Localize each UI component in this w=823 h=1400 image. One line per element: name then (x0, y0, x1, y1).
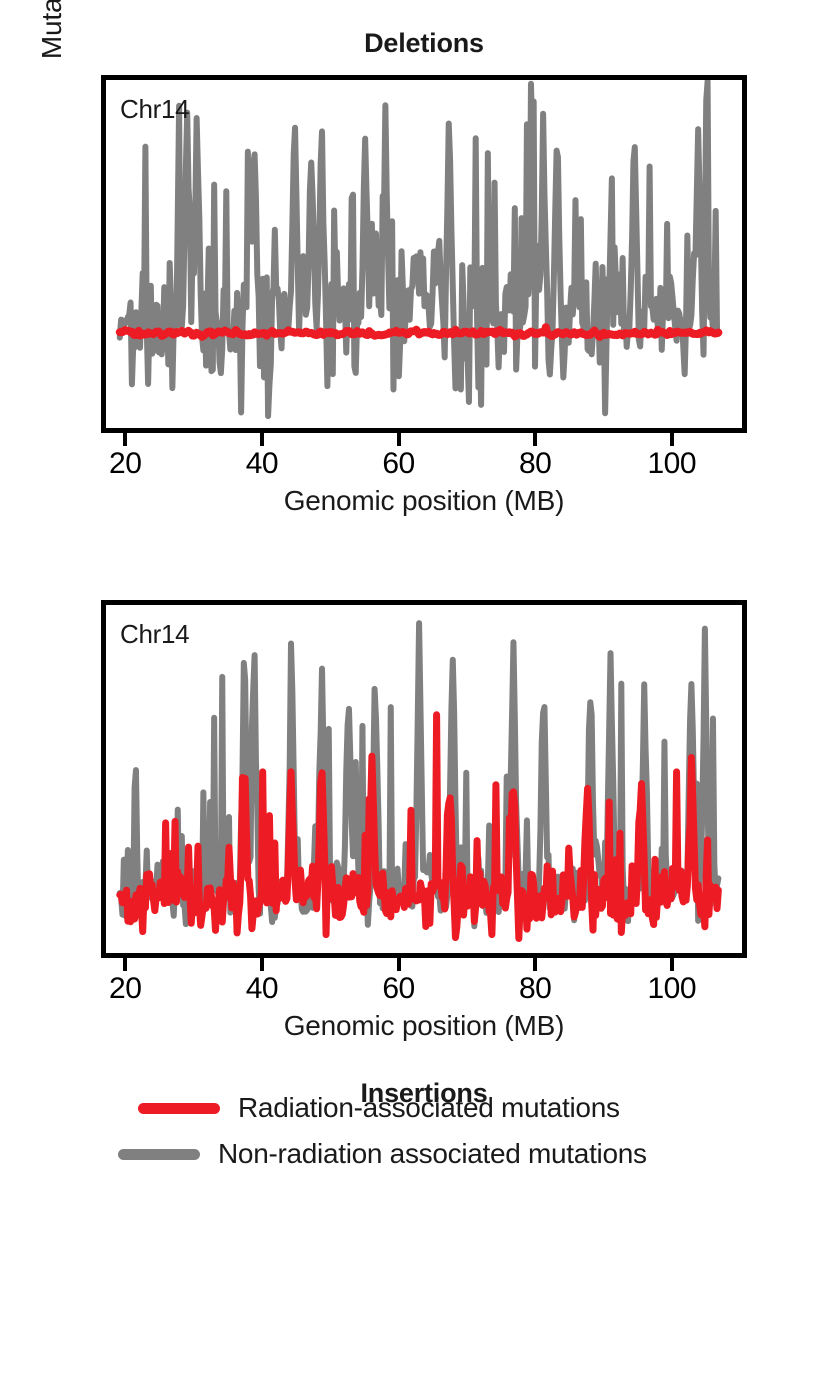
y-axis-label: Mutation likelihood (36, 0, 76, 120)
x-tick-label-40: 40 (246, 972, 278, 1006)
legend-item-non-radiation: Non-radiation associated mutations (0, 1131, 823, 1177)
x-axis-title-insertions: Genomic position (MB) (101, 1010, 747, 1042)
panel-title-deletions: Deletions (101, 28, 747, 59)
x-tick-label-40: 40 (246, 447, 278, 481)
plot-area-deletions: Chr14 (101, 75, 747, 433)
x-tick-label-60: 60 (382, 972, 414, 1006)
x-axis-title-deletions: Genomic position (MB) (101, 485, 747, 517)
gray-line-swatch-icon (118, 1149, 200, 1160)
x-tick-80 (533, 958, 537, 971)
series-non-radiation (120, 81, 719, 416)
legend-item-radiation: Radiation-associated mutations (0, 1085, 823, 1131)
x-tick-label-100: 100 (647, 972, 696, 1006)
chromosome-label-deletions: Chr14 (120, 94, 189, 125)
x-tick-100 (670, 958, 674, 971)
trace-canvas-insertions (106, 605, 742, 953)
plot-area-insertions: Chr14 (101, 600, 747, 958)
x-tick-label-20: 20 (109, 972, 141, 1006)
x-tick-20 (123, 958, 127, 971)
x-tick-80 (533, 433, 537, 446)
x-tick-label-20: 20 (109, 447, 141, 481)
x-axis-insertions: Genomic position (MB) 20406080100 (101, 958, 747, 1048)
x-tick-label-60: 60 (382, 447, 414, 481)
x-tick-100 (670, 433, 674, 446)
figure-root: Mutation likelihood Deletions Chr14 Geno… (0, 0, 823, 1400)
x-tick-20 (123, 433, 127, 446)
x-axis-deletions: Genomic position (MB) 20406080100 (101, 433, 747, 523)
x-tick-label-80: 80 (519, 972, 551, 1006)
x-tick-40 (260, 433, 264, 446)
x-tick-60 (397, 958, 401, 971)
trace-canvas-deletions (106, 80, 742, 428)
x-tick-label-100: 100 (647, 447, 696, 481)
x-tick-40 (260, 958, 264, 971)
x-tick-label-80: 80 (519, 447, 551, 481)
x-tick-60 (397, 433, 401, 446)
legend-label-radiation: Radiation-associated mutations (238, 1092, 620, 1124)
red-line-swatch-icon (138, 1103, 220, 1114)
legend-label-non-radiation: Non-radiation associated mutations (218, 1138, 647, 1170)
chromosome-label-insertions: Chr14 (120, 619, 189, 650)
